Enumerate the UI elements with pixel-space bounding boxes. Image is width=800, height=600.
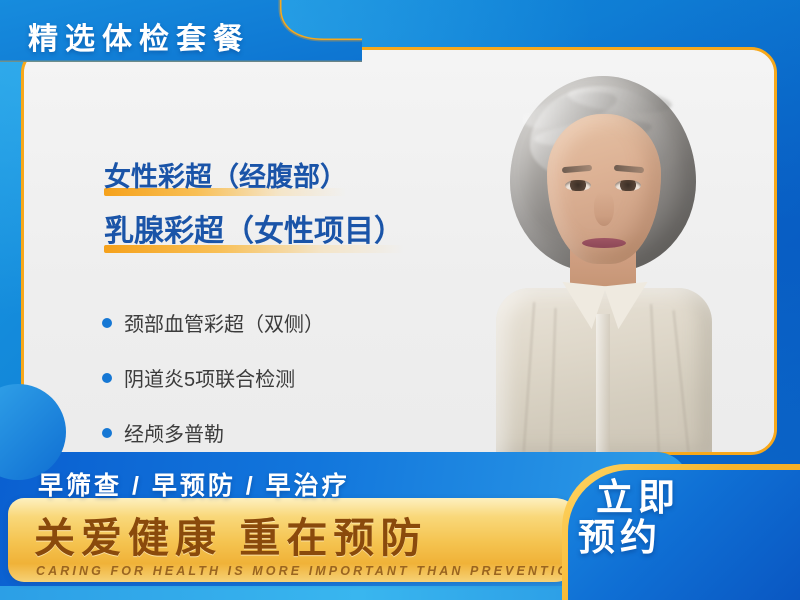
health-checkup-poster: 女性彩超（经腹部） 乳腺彩超（女性项目） 颈部血管彩超（双侧） 阴道炎5项联合检… bbox=[0, 0, 800, 600]
headline-primary-text: 女性彩超（经腹部） bbox=[104, 162, 347, 192]
list-item: 经颅多普勒 bbox=[102, 418, 324, 447]
list-item-label: 颈部血管彩超（双侧） bbox=[124, 308, 324, 337]
content-card: 女性彩超（经腹部） 乳腺彩超（女性项目） 颈部血管彩超（双侧） 阴道炎5项联合检… bbox=[21, 47, 777, 455]
footer-slogan: 早筛查 / 早预防 / 早治疗 bbox=[38, 466, 350, 502]
eye-left bbox=[565, 180, 591, 191]
bullet-dot-icon bbox=[102, 318, 112, 328]
cta-line-1: 立即 bbox=[596, 478, 680, 518]
service-list: 颈部血管彩超（双侧） 阴道炎5项联合检测 经颅多普勒 bbox=[102, 308, 324, 455]
footer: 早筛查 / 早预防 / 早治疗 关爱健康 重在预防 CARING FOR HEA… bbox=[0, 452, 800, 600]
page-title: 精选体检套餐 bbox=[28, 14, 250, 58]
list-item-label: 经颅多普勒 bbox=[124, 418, 224, 447]
gold-plaque: 关爱健康 重在预防 CARING FOR HEALTH IS MORE IMPO… bbox=[8, 498, 584, 582]
headline-secondary-text: 乳腺彩超（女性项目） bbox=[104, 215, 404, 248]
headline-secondary: 乳腺彩超（女性项目） bbox=[104, 215, 404, 250]
list-item-label: 阴道炎5项联合检测 bbox=[124, 363, 295, 392]
mouth bbox=[582, 238, 626, 248]
plaque-headline: 关爱健康 重在预防 bbox=[34, 504, 427, 564]
collar-right bbox=[604, 282, 652, 330]
plaque-subtitle: CARING FOR HEALTH IS MORE IMPORTANT THAN… bbox=[36, 564, 582, 578]
book-now-button[interactable]: 立即 预约 bbox=[562, 464, 800, 600]
collar-left bbox=[558, 282, 606, 330]
headline-primary: 女性彩超（经腹部） bbox=[104, 162, 347, 193]
list-item: 颈部血管彩超（双侧） bbox=[102, 308, 324, 337]
cta-line-2: 预约 bbox=[578, 518, 680, 558]
shirt-placket bbox=[596, 314, 610, 452]
eye-right bbox=[615, 180, 641, 191]
model-photo bbox=[418, 52, 777, 452]
bullet-dot-icon bbox=[102, 373, 112, 383]
list-item: 阴道炎5项联合检测 bbox=[102, 363, 324, 392]
cta-label: 立即 预约 bbox=[596, 478, 680, 558]
nose bbox=[594, 192, 614, 226]
portrait-illustration bbox=[418, 52, 777, 452]
headline-list: 女性彩超（经腹部） 乳腺彩超（女性项目） bbox=[104, 162, 404, 250]
bullet-dot-icon bbox=[102, 428, 112, 438]
